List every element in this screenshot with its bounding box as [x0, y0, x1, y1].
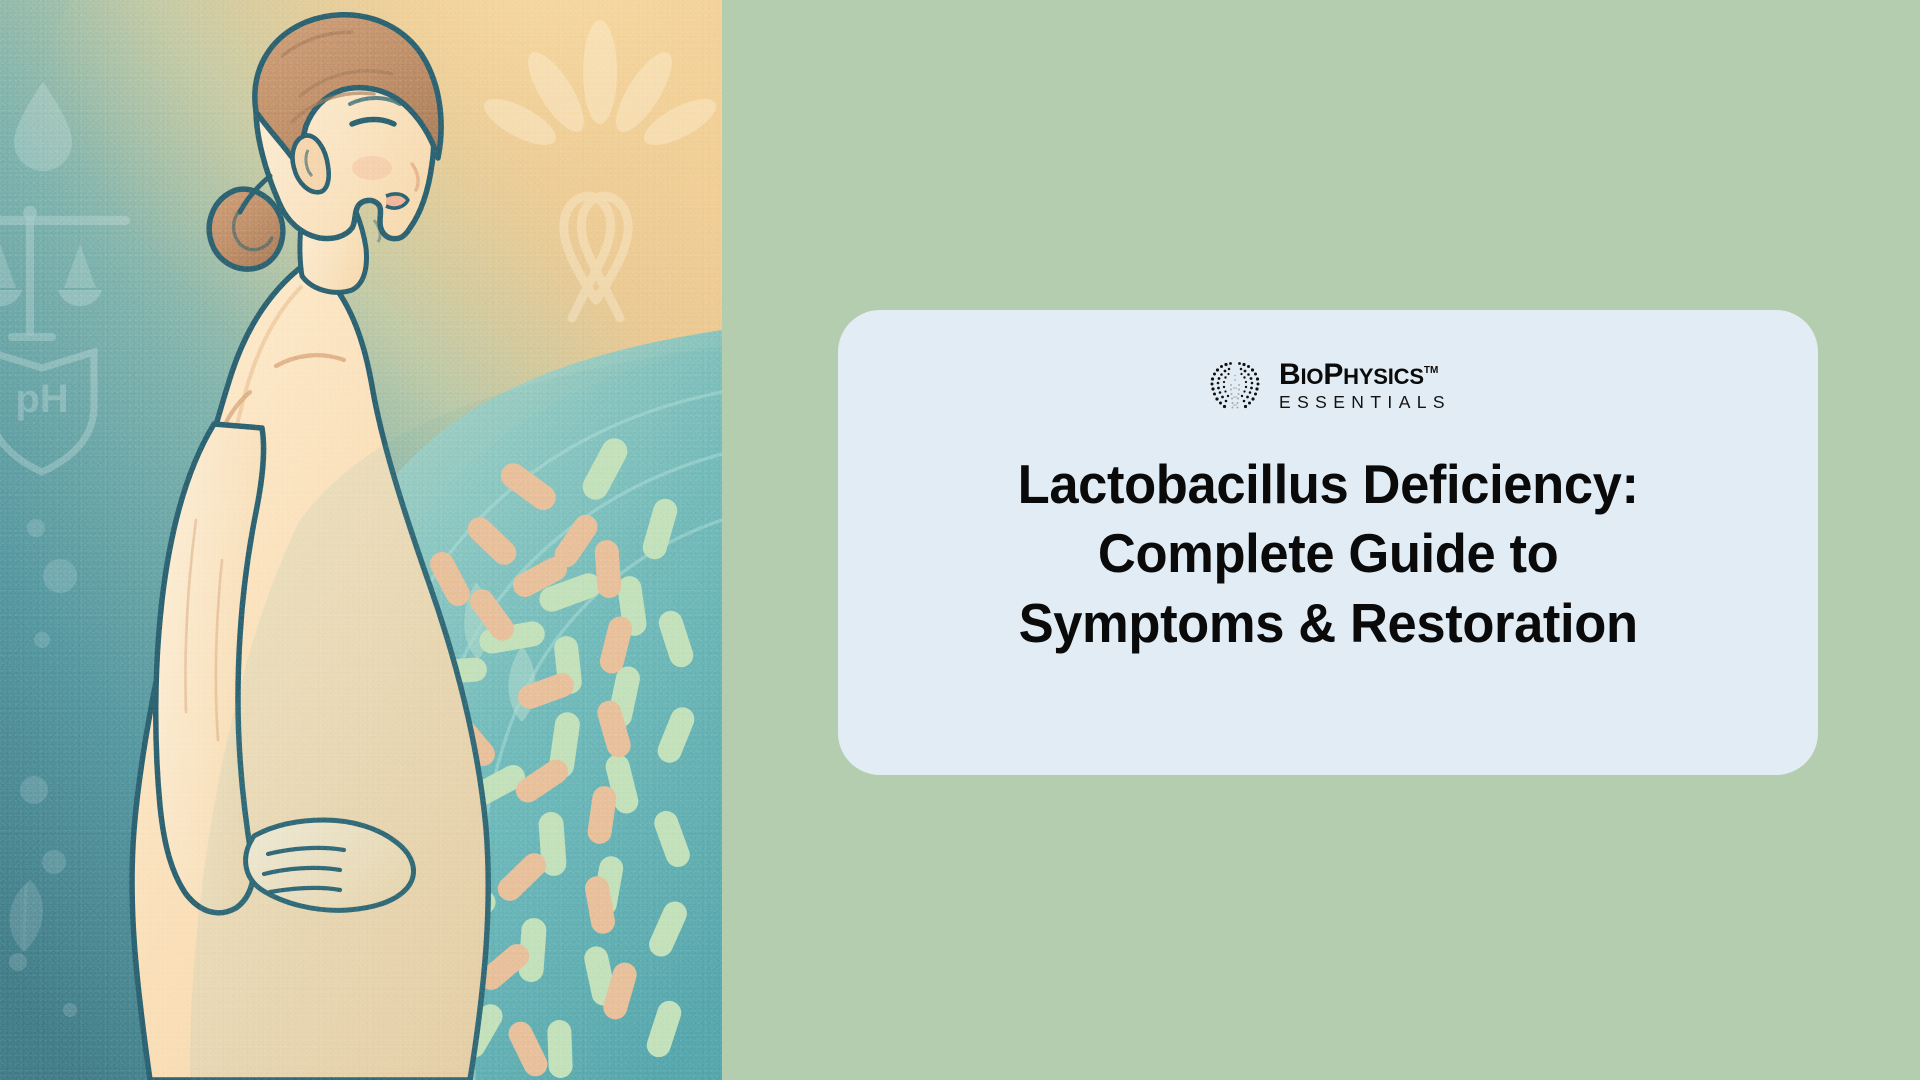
- logo-wordmark-io: IO: [1300, 364, 1323, 389]
- title-card: BIOPHYSICSTM ESSENTIALS Lactobacillus De…: [838, 310, 1818, 775]
- woman-lips: [386, 194, 408, 208]
- hero-illustration: pH: [0, 0, 722, 1080]
- biophysics-essentials-logo-mark: [1205, 356, 1265, 416]
- featured-image-canvas: pH: [0, 0, 1920, 1080]
- logo-wordmark-p: P: [1323, 358, 1343, 391]
- logo-wordmark: BIOPHYSICSTM: [1279, 360, 1451, 390]
- brand-logo: BIOPHYSICSTM ESSENTIALS: [1205, 354, 1451, 418]
- cheek-blush: [352, 156, 392, 180]
- logo-wordmark-b: B: [1279, 358, 1300, 391]
- logo-wordmark-group: BIOPHYSICSTM ESSENTIALS: [1279, 360, 1451, 412]
- logo-wordmark-hysics: HYSICS: [1343, 364, 1424, 389]
- ph-shield-label: pH: [15, 377, 68, 421]
- trademark-symbol: TM: [1424, 365, 1438, 376]
- page-title: Lactobacillus Deficiency: Complete Guide…: [1018, 450, 1639, 658]
- logo-subtitle: ESSENTIALS: [1279, 394, 1451, 412]
